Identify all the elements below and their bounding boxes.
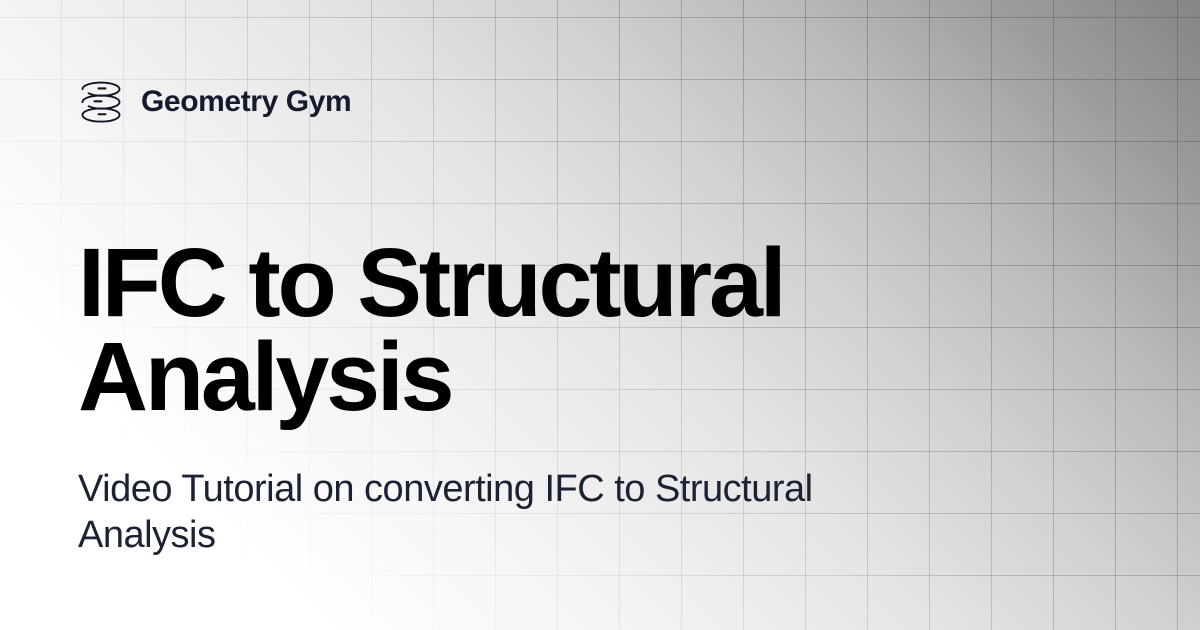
geometry-gym-coil-logo-icon	[78, 80, 124, 124]
og-share-card: Geometry Gym IFC to Structural Analysis …	[0, 0, 1200, 630]
card-content: Geometry Gym IFC to Structural Analysis …	[0, 0, 1200, 630]
brand-name: Geometry Gym	[141, 87, 351, 117]
page-title: IFC to Structural Analysis	[78, 236, 918, 424]
page-subtitle: Video Tutorial on converting IFC to Stru…	[78, 466, 878, 559]
brand-lockup: Geometry Gym	[78, 80, 351, 124]
